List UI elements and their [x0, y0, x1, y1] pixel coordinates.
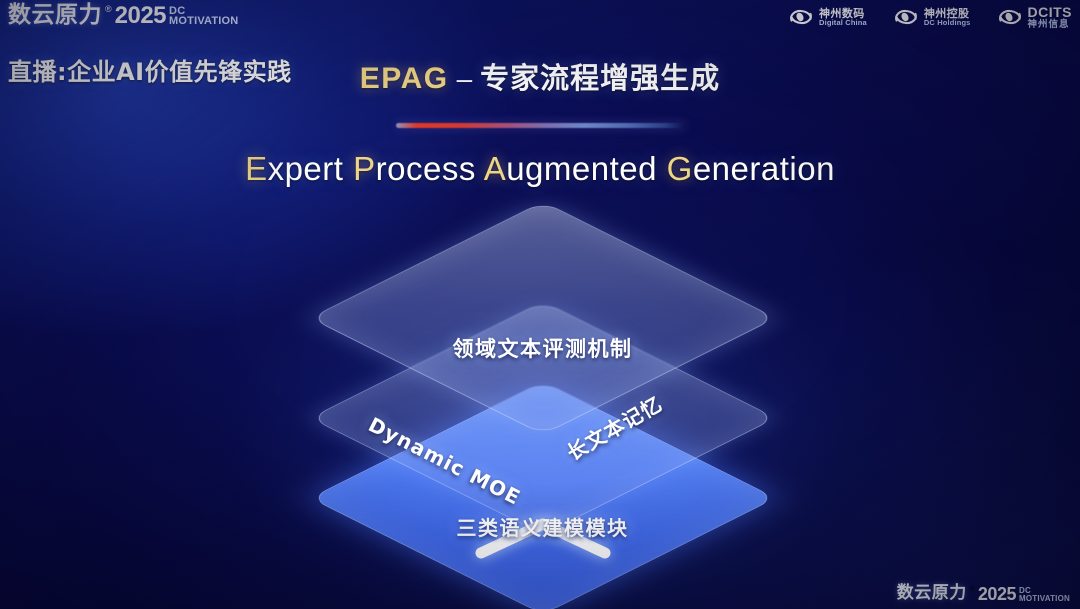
partner-logo-group: 神州数码 Digital China 神州控股 DC Holdings [788, 5, 1072, 30]
subtitle-part: P [353, 150, 376, 187]
subtitle-part: rocess [376, 150, 484, 187]
watermark-motivation: MOTIVATION [1019, 595, 1070, 603]
subtitle-expansion: Expert Process Augmented Generation [0, 150, 1080, 188]
partner-logo-text: 神州控股 DC Holdings [924, 8, 971, 27]
subtitle-part: ugmented [506, 150, 666, 187]
swirl-logo-icon [893, 6, 919, 28]
subtitle-part: eneration [693, 150, 835, 187]
brand-logo-year: 2025 [115, 4, 166, 28]
partner-logo-text: 神州数码 Digital China [819, 8, 867, 27]
swirl-logo-icon [997, 6, 1023, 28]
layer-stack-diagram: 领域文本评测机制 Dynamic MOE 长文本记忆 三类语义建模模块 [270, 215, 815, 600]
live-session-title: 直播:企业AI价值先锋实践 [8, 52, 292, 87]
partner-logo-dcits: DCITS 神州信息 [997, 5, 1073, 30]
title-chinese: 专家流程增强生成 [480, 61, 720, 95]
subtitle-part: E [245, 150, 268, 187]
partner-logo-digital-china: 神州数码 Digital China [788, 6, 867, 28]
title-divider [396, 123, 686, 128]
brand-logo-motivation: MOTIVATION [169, 16, 238, 26]
brand-logo-dcm: DC MOTIVATION [169, 4, 238, 27]
watermark-year: 2025 [978, 585, 1016, 603]
watermark-dcm: DC MOTIVATION [1019, 585, 1070, 602]
registered-mark-icon: ® [970, 586, 975, 593]
subtitle-part: xpert [268, 150, 354, 187]
subtitle-part: G [667, 150, 693, 187]
partner-logo-text: DCITS 神州信息 [1028, 5, 1073, 30]
slide-canvas: 数云原力 ® 2025 DC MOTIVATION 直播:企业AI价值先锋实践 [0, 0, 1080, 609]
watermark-cn: 数云原力 [897, 585, 967, 602]
partner-name-en: DC Holdings [924, 19, 971, 27]
brand-logo-cn: 数云原力 [8, 4, 102, 27]
registered-mark-icon: ® [105, 5, 112, 14]
brand-logo-top-left: 数云原力 ® 2025 DC MOTIVATION [8, 4, 238, 28]
swirl-logo-icon [788, 6, 814, 28]
partner-name-en: 神州信息 [1028, 20, 1073, 30]
partner-name-cn: DCITS [1028, 5, 1073, 20]
partner-name-en: Digital China [819, 19, 867, 27]
title-acronym: EPAG [360, 62, 449, 95]
footer-watermark: 数云原力 ® 2025 DC MOTIVATION [897, 585, 1070, 603]
brand-logo-lockup: 数云原力 ® 2025 DC MOTIVATION [8, 4, 238, 28]
subtitle-part: A [484, 150, 507, 187]
title-dash: – [449, 63, 481, 94]
partner-logo-dc-holdings: 神州控股 DC Holdings [893, 6, 971, 28]
